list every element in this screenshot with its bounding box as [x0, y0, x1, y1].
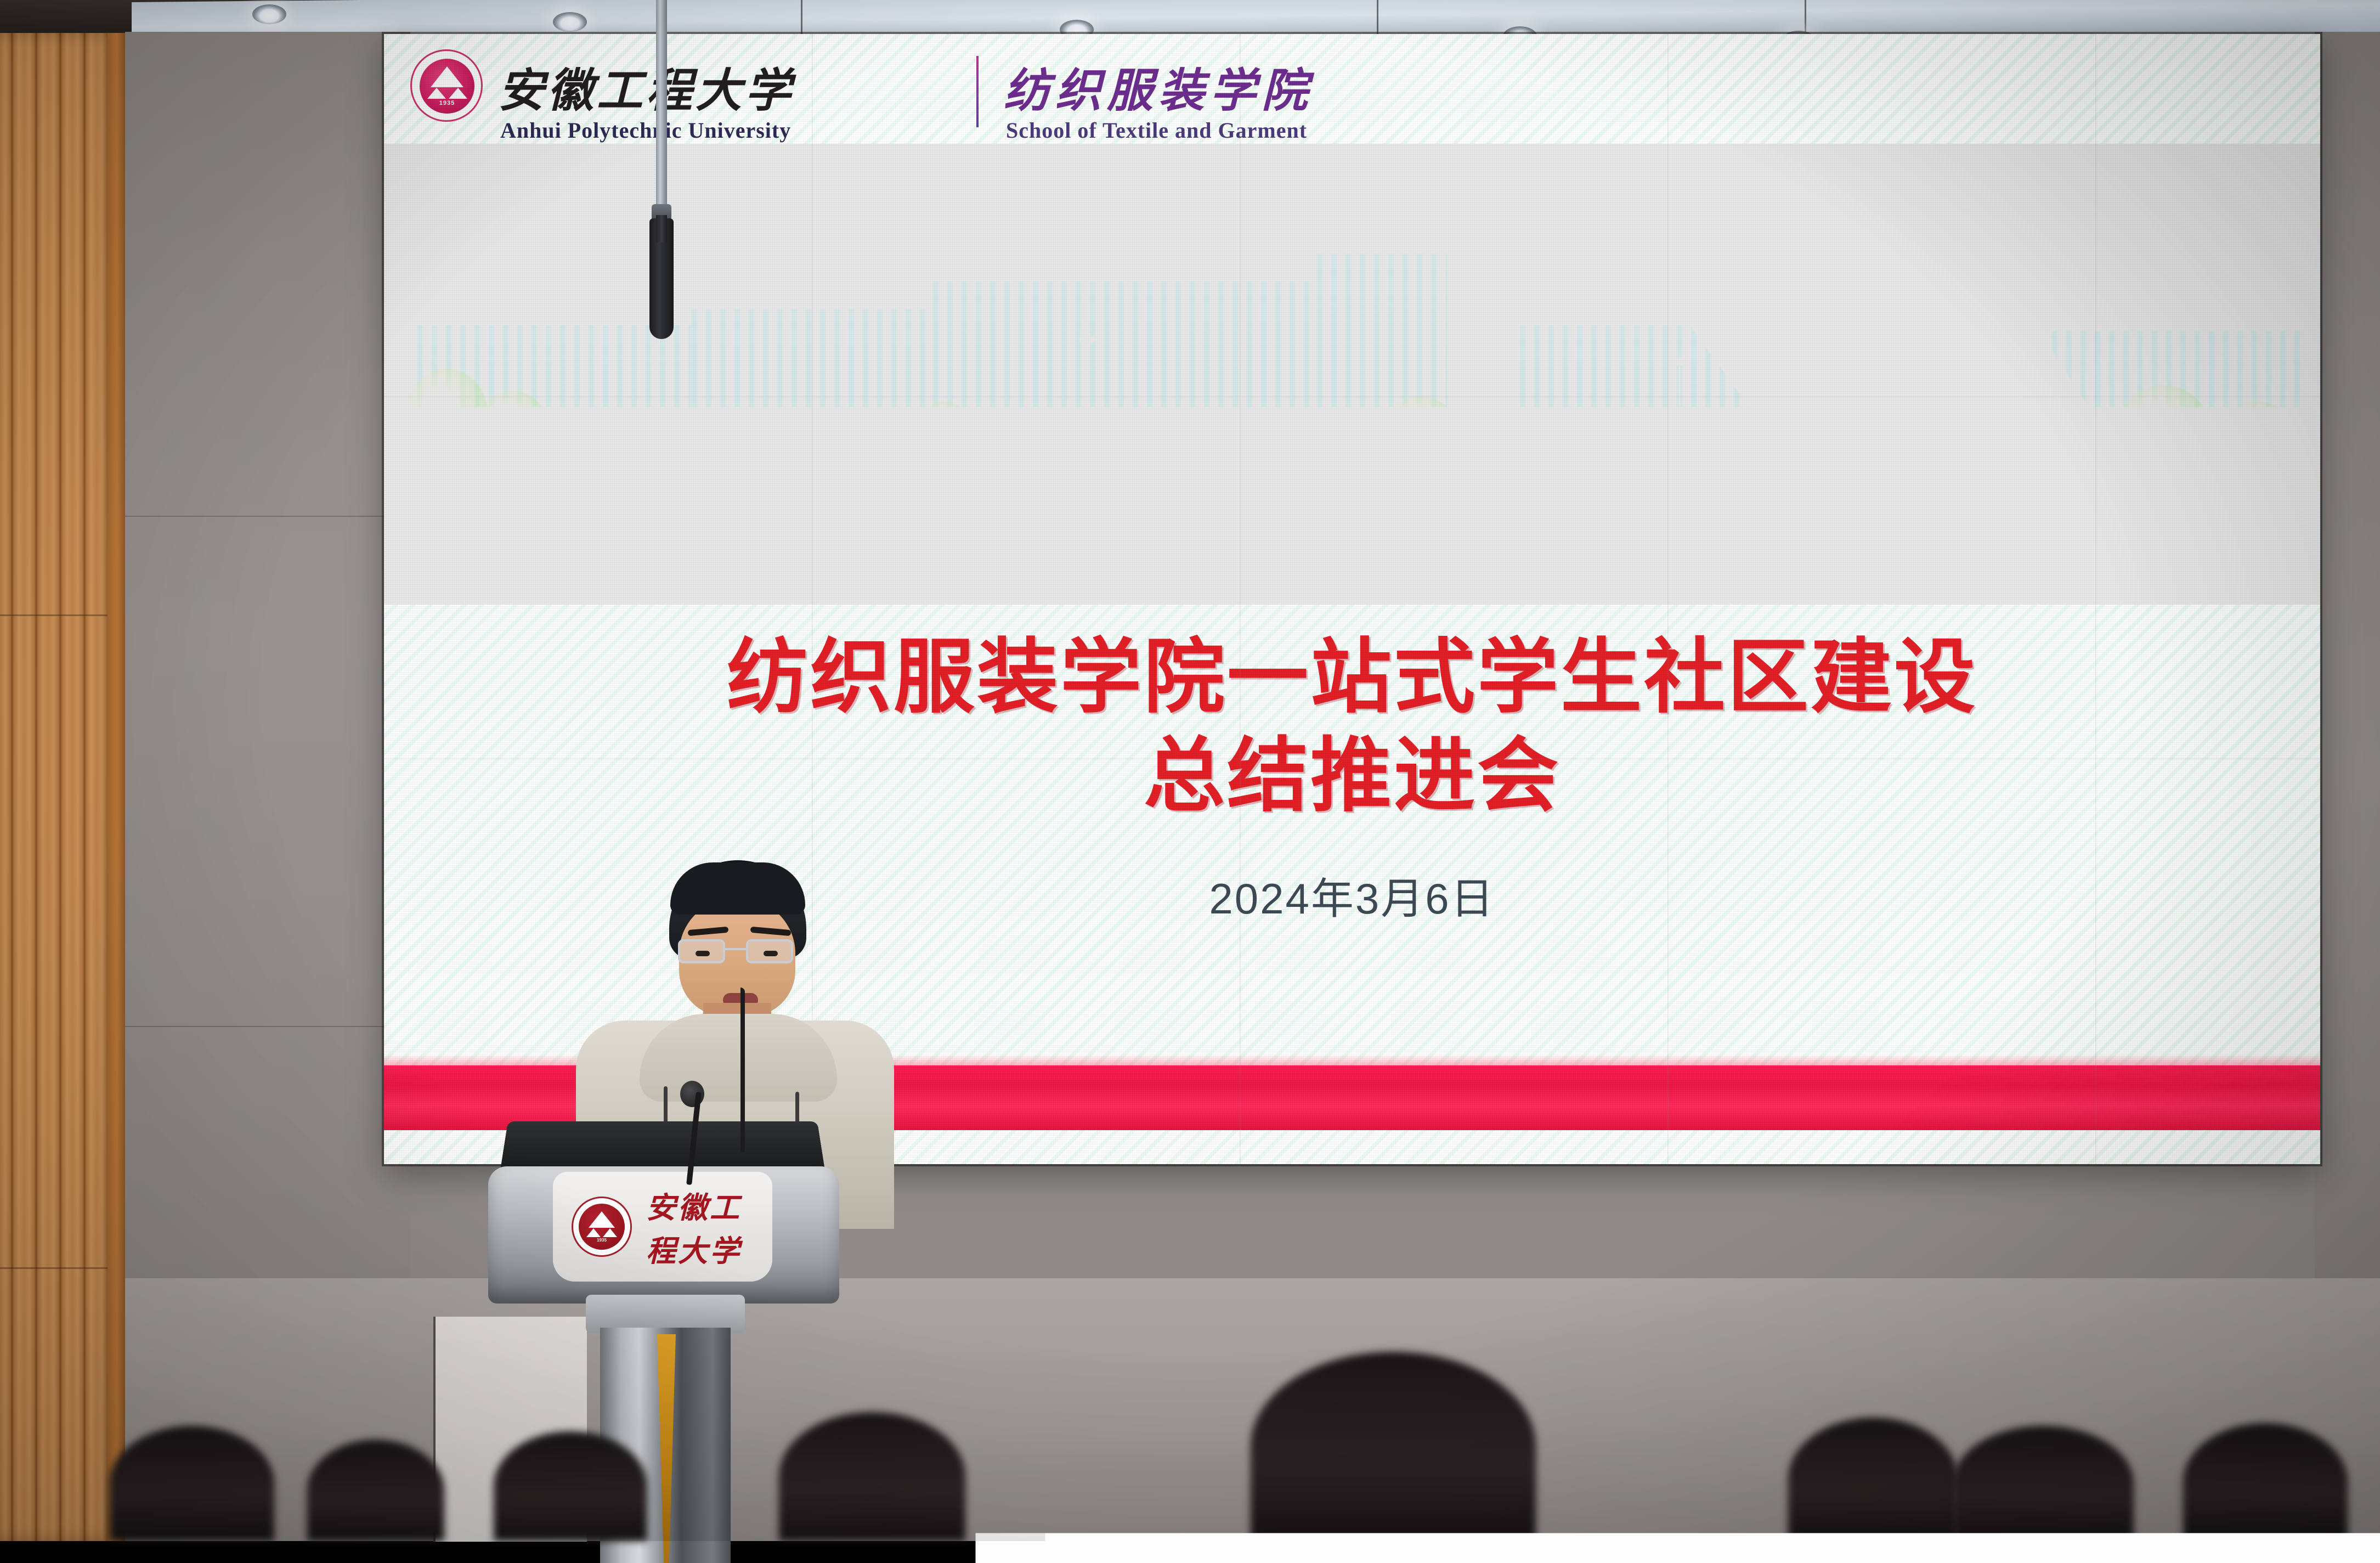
- school-name-en: School of Textile and Garment: [1006, 117, 1307, 143]
- slide-title-line1: 纺织服装学院一站式学生社区建设: [384, 632, 2320, 723]
- led-panel-seam: [2095, 34, 2096, 1164]
- slide-header: 1935 安徽工程大学 Anhui Polytechnic University…: [384, 34, 2320, 160]
- podium-plaque: 1935 安徽工程大学: [553, 1172, 772, 1282]
- crest-year: 1935: [439, 100, 455, 106]
- speaker-hood: [640, 1014, 837, 1102]
- audience-head-silhouette: [494, 1431, 647, 1541]
- led-panel-seam: [1240, 34, 1241, 1164]
- audience-head-silhouette: [1251, 1352, 1536, 1541]
- led-panel-seam: [1667, 34, 1669, 1164]
- conference-hall-room: 1935 安徽工程大学 Anhui Polytechnic University…: [0, 0, 2380, 1541]
- podium-plaque-text: 安徽工程大学: [646, 1183, 772, 1270]
- microphone-neck: [656, 215, 667, 242]
- microphone-cable: [740, 988, 745, 1152]
- wall-panel-seam: [125, 516, 410, 517]
- speaker-glasses-icon: [672, 939, 803, 963]
- microphone-boom-pole: [656, 0, 667, 211]
- podium-crest-year: 1935: [597, 1238, 607, 1243]
- audience-head-silhouette: [2183, 1423, 2348, 1541]
- wood-panel-edge: [108, 33, 126, 1541]
- audience-head-silhouette: [307, 1440, 444, 1541]
- audience-head-silhouette: [1788, 1418, 1958, 1541]
- audience-head-silhouette: [110, 1426, 274, 1541]
- university-name-cn: 安徽工程大学: [498, 54, 794, 120]
- wood-panel-seam: [0, 614, 116, 616]
- speaker-hair-front: [670, 862, 805, 915]
- wood-panel-seam: [0, 1267, 116, 1269]
- slide-title-line2: 总结推进会: [384, 731, 2320, 822]
- campus-photo: [384, 144, 2320, 605]
- header-divider: [976, 56, 979, 127]
- audience-head-silhouette: [1953, 1426, 2134, 1541]
- wood-slat-wall-panel: [0, 33, 116, 1541]
- school-name-cn: 纺织服装学院: [1004, 54, 1313, 120]
- university-crest-icon: 1935: [410, 49, 483, 122]
- led-panel-seam: [384, 758, 2320, 759]
- audience-head-silhouette: [779, 1412, 965, 1541]
- led-panel-seam: [384, 396, 2320, 397]
- wall-panel-seam: [125, 1026, 410, 1027]
- university-name-en: Anhui Polytechnic University: [500, 117, 791, 143]
- ceiling-downlight: [553, 12, 587, 32]
- podium-crest-icon: 1935: [572, 1197, 632, 1257]
- ceiling-downlight: [252, 4, 286, 24]
